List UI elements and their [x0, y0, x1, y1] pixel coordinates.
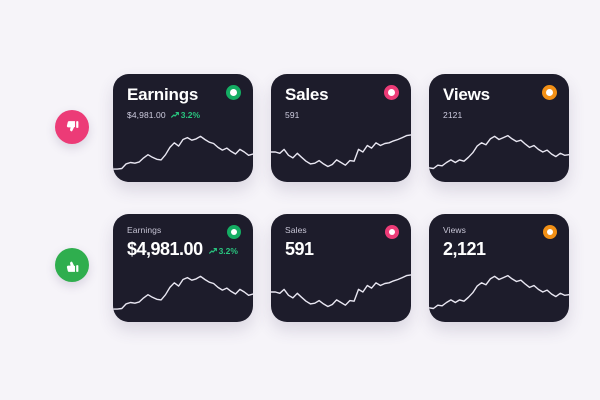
- sparkline-chart: [429, 126, 569, 182]
- thumbs-down-icon: [64, 119, 81, 136]
- card-metric-line: 591: [285, 110, 397, 120]
- stat-card-sales[interactable]: Sales 591: [271, 214, 411, 322]
- card-value: 2,121: [443, 239, 486, 260]
- status-dot-icon[interactable]: [543, 225, 557, 239]
- card-value: $4,981.00: [127, 110, 166, 120]
- card-row-good: Earnings $4,981.00 3.2% Sales 591: [113, 214, 569, 322]
- card-value: 591: [285, 110, 299, 120]
- status-dot-icon[interactable]: [226, 85, 241, 100]
- sparkline-chart: [113, 126, 253, 182]
- status-dot-core: [546, 89, 553, 96]
- card-value: $4,981.00: [127, 239, 203, 260]
- delta-value: 3.2%: [219, 246, 238, 256]
- stat-card-sales[interactable]: Sales 591: [271, 74, 411, 182]
- status-dot-core: [389, 229, 395, 235]
- card-value: 2121: [443, 110, 462, 120]
- card-label: Views: [443, 86, 555, 105]
- status-dot-icon[interactable]: [385, 225, 399, 239]
- card-metric-line: $4,981.00 3.2%: [127, 239, 239, 260]
- status-dot-core: [547, 229, 553, 235]
- design-comparison-board: Earnings $4,981.00 3.2% Sales 591: [0, 0, 600, 400]
- stat-card-views[interactable]: Views 2121: [429, 74, 569, 182]
- card-metric-line: 2121: [443, 110, 555, 120]
- card-value: 591: [285, 239, 314, 260]
- card-metric-line: 591: [285, 239, 397, 260]
- stat-card-views[interactable]: Views 2,121: [429, 214, 569, 322]
- delta-indicator: 3.2%: [171, 110, 200, 120]
- sparkline-chart: [271, 126, 411, 182]
- card-label: Earnings: [127, 226, 239, 235]
- status-dot-icon[interactable]: [227, 225, 241, 239]
- card-label: Earnings: [127, 86, 239, 105]
- card-label: Sales: [285, 226, 397, 235]
- stat-card-earnings[interactable]: Earnings $4,981.00 3.2%: [113, 214, 253, 322]
- status-dot-icon[interactable]: [384, 85, 399, 100]
- card-label: Sales: [285, 86, 397, 105]
- status-dot-core: [388, 89, 395, 96]
- delta-indicator: 3.2%: [209, 246, 238, 256]
- sparkline-chart: [271, 266, 411, 322]
- card-row-bad: Earnings $4,981.00 3.2% Sales 591: [113, 74, 569, 182]
- stat-card-earnings[interactable]: Earnings $4,981.00 3.2%: [113, 74, 253, 182]
- card-metric-line: $4,981.00 3.2%: [127, 110, 239, 120]
- thumbs-down-badge[interactable]: [55, 110, 89, 144]
- thumbs-up-badge[interactable]: [55, 248, 89, 282]
- delta-value: 3.2%: [181, 110, 200, 120]
- sparkline-chart: [429, 266, 569, 322]
- status-dot-core: [230, 89, 237, 96]
- status-dot-icon[interactable]: [542, 85, 557, 100]
- card-label: Views: [443, 226, 555, 235]
- sparkline-chart: [113, 266, 253, 322]
- status-dot-core: [231, 229, 237, 235]
- card-metric-line: 2,121: [443, 239, 555, 260]
- thumbs-up-icon: [64, 257, 81, 274]
